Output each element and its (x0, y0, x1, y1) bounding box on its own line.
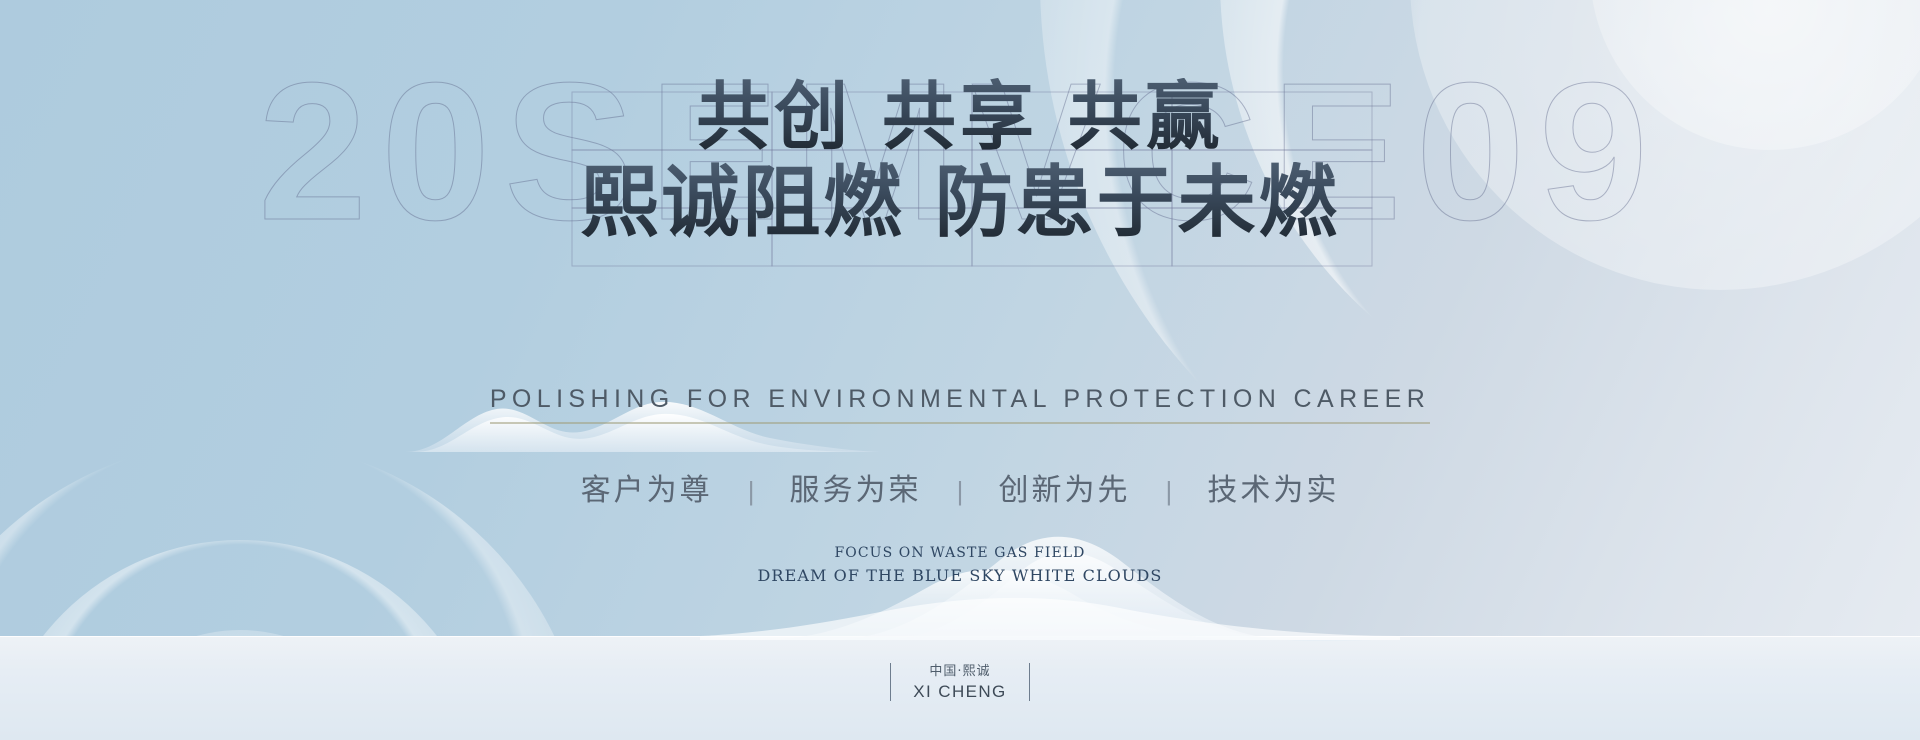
tagline-text: POLISHING FOR ENVIRONMENTAL PROTECTION C… (490, 385, 1430, 424)
value-separator-1: | (717, 476, 785, 507)
brand-divider-right (1029, 663, 1030, 701)
brand-divider-left (890, 663, 891, 701)
headline: 共创 共享 共赢 熙诚阻燃 防患于未燃 (0, 78, 1920, 245)
brand-name-cn: 中国·熙诚 (929, 664, 990, 679)
value-item-3: 创新为先 (998, 465, 1130, 509)
value-separator-2: | (926, 476, 994, 507)
headline-line-1: 共创 共享 共赢 (0, 78, 1920, 156)
values-row: 客户为尊 | 服务为荣 | 创新为先 | 技术为实 (0, 465, 1920, 509)
headline-line-2: 熙诚阻燃 防患于未燃 (0, 162, 1920, 245)
serif-line-1: FOCUS ON WASTE GAS FIELD (0, 543, 1920, 564)
serif-line-2: DREAM OF THE BLUE SKY WHITE CLOUDS (0, 564, 1920, 588)
brand-mark: 中国·熙诚 XI CHENG (0, 660, 1920, 704)
banner-canvas: 20SEMVCE09 (0, 0, 1920, 740)
value-item-2: 服务为荣 (790, 465, 922, 509)
brand-text: 中国·熙诚 XI CHENG (913, 660, 1006, 704)
serif-subtitle: FOCUS ON WASTE GAS FIELD DREAM OF THE BL… (0, 543, 1920, 588)
value-item-1: 客户为尊 (581, 465, 713, 509)
tagline: POLISHING FOR ENVIRONMENTAL PROTECTION C… (0, 385, 1920, 424)
brand-name-en: XI CHENG (913, 682, 1006, 701)
value-separator-3: | (1135, 476, 1203, 507)
value-item-4: 技术为实 (1207, 465, 1339, 509)
